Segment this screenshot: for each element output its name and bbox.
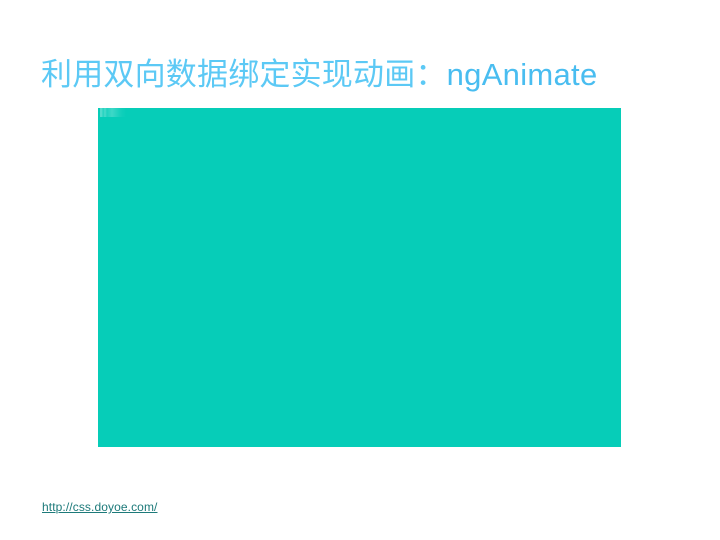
slide-canvas: 利用双向数据绑定实现动画：ngAnimate Hello,Angular 下一页… — [0, 0, 720, 540]
animation-demo-stage: Hello,Angular 下一页 — [98, 108, 621, 447]
stage-heading-text: Hello,Angular — [98, 446, 621, 447]
page-title-cjk-text: 利用双向数据绑定实现动画 — [41, 57, 415, 92]
footer-source-link[interactable]: http://css.doyoe.com/ — [42, 499, 158, 515]
page-title-colon: ： — [415, 57, 446, 92]
stage-top-left-artifact — [100, 108, 126, 117]
page-title-module-name: ngAnimate — [447, 57, 598, 92]
page-title: 利用双向数据绑定实现动画：ngAnimate — [41, 52, 681, 98]
